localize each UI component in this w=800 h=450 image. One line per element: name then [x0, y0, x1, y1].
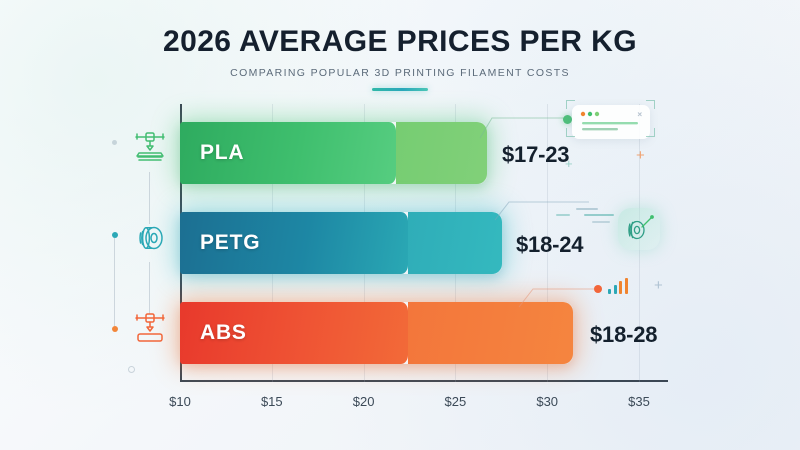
bar-label-petg: PETG	[200, 231, 260, 255]
printer-icon	[128, 306, 172, 350]
rail-dot	[112, 232, 118, 238]
bar-label-abs: ABS	[200, 321, 247, 345]
x-tick-label-5: $35	[628, 394, 650, 409]
bar-segment-max-pla	[396, 122, 487, 184]
x-tick-label-0: $10	[169, 394, 191, 409]
bar-label-pla: PLA	[200, 141, 244, 165]
decor-dash	[592, 221, 610, 223]
plus-icon: +	[636, 148, 645, 163]
bracket-corner	[566, 100, 575, 109]
window-card-icon	[572, 105, 650, 139]
leader-dot-abs	[594, 285, 602, 293]
mini-bar-chart-icon	[608, 278, 628, 294]
x-axis-line	[180, 380, 668, 382]
accent-divider	[372, 88, 428, 91]
value-label-abs: $18-28	[590, 322, 657, 348]
decor-dash	[556, 214, 570, 216]
x-tick-label-3: $25	[445, 394, 467, 409]
decor-dash	[584, 214, 614, 216]
rail-dot	[112, 326, 118, 332]
rail-dot	[128, 366, 135, 373]
value-label-pla: $17-23	[502, 142, 569, 168]
bar-segment-max-petg	[408, 212, 502, 274]
rail-icon-pla	[128, 126, 172, 170]
printer-icon	[128, 126, 172, 170]
bar-segment-min-abs: ABS	[180, 302, 410, 364]
bar-segment-min-petg: PETG	[180, 212, 410, 274]
infographic-canvas: 2026 AVERAGE PRICES PER KG COMPARING POP…	[0, 0, 800, 450]
bar-petg[interactable]: PETG	[180, 212, 502, 274]
bracket-corner	[646, 128, 655, 137]
spool-trend-icon	[615, 205, 663, 253]
page-title: 2026 AVERAGE PRICES PER KG	[0, 26, 800, 58]
bar-row-pla[interactable]: PLA	[180, 122, 487, 184]
chart-plot-area: $10 $15 $20 $25 $30 $35 PLA $17-23 PETG	[180, 104, 668, 382]
rail-connector	[114, 238, 115, 326]
leader-dot-pla	[563, 115, 572, 124]
bar-pla[interactable]: PLA	[180, 122, 487, 184]
bar-segment-max-abs	[408, 302, 573, 364]
x-tick-label-1: $15	[261, 394, 283, 409]
header: 2026 AVERAGE PRICES PER KG COMPARING POP…	[0, 26, 800, 91]
decor-dash	[576, 208, 598, 210]
bracket-corner	[566, 128, 575, 137]
bar-row-abs[interactable]: ABS	[180, 302, 573, 364]
x-tick-label-4: $30	[536, 394, 558, 409]
rail-icon-abs	[128, 306, 172, 350]
spool-icon	[128, 216, 172, 260]
category-icon-rail	[118, 104, 180, 382]
page-subtitle: COMPARING POPULAR 3D PRINTING FILAMENT C…	[0, 67, 800, 79]
plus-icon: +	[565, 157, 573, 170]
bar-segment-min-pla: PLA	[180, 122, 398, 184]
x-tick-label-2: $20	[353, 394, 375, 409]
bar-abs[interactable]: ABS	[180, 302, 573, 364]
spool-trend-glyph	[615, 205, 663, 253]
value-label-petg: $18-24	[516, 232, 583, 258]
bracket-corner	[646, 100, 655, 109]
rail-dot	[112, 140, 117, 145]
plus-icon: +	[654, 278, 663, 293]
rail-icon-petg	[128, 216, 172, 260]
bar-row-petg[interactable]: PETG	[180, 212, 502, 274]
window-card-glyph	[572, 105, 650, 139]
